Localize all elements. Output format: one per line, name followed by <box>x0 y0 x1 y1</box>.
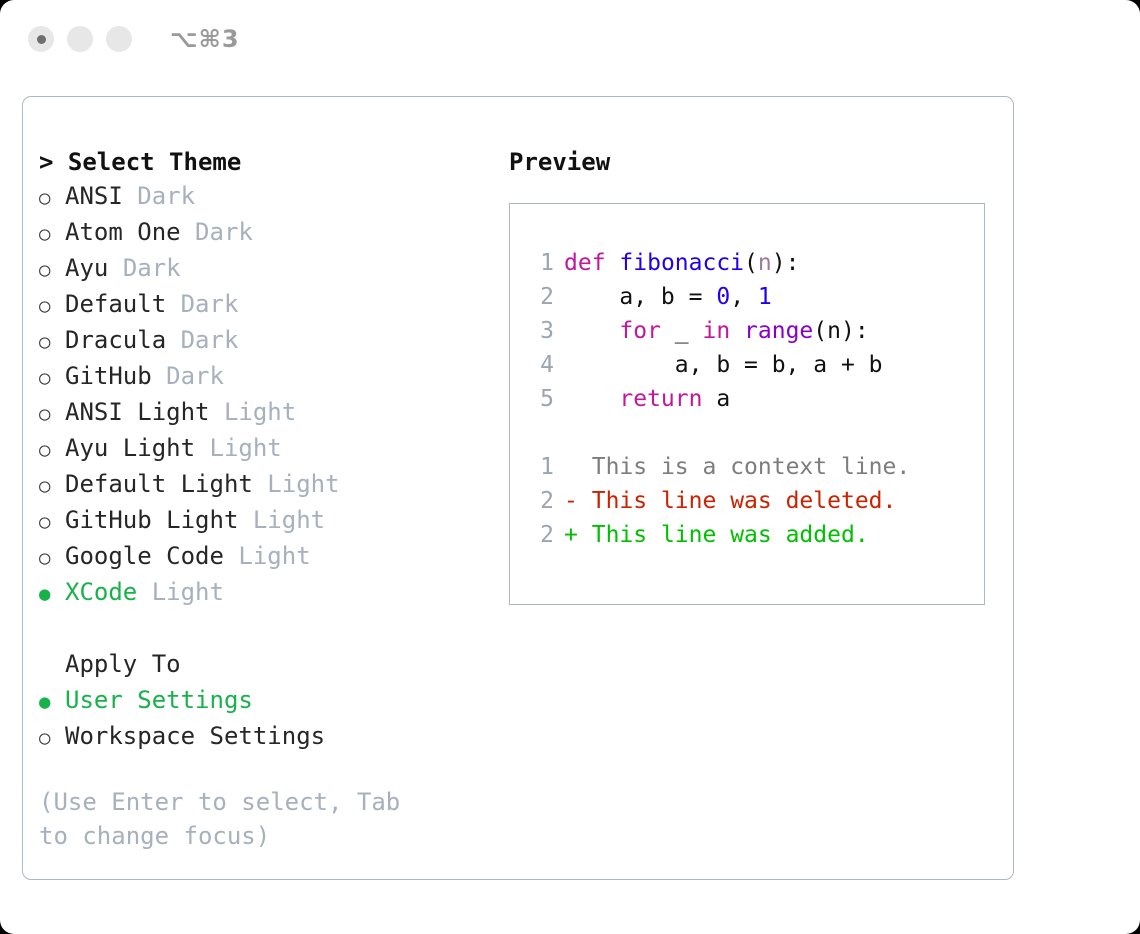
apply-to-heading-spacer <box>39 649 65 683</box>
theme-option-name: ANSI Light <box>65 395 210 429</box>
theme-option-name: Atom One <box>65 215 181 249</box>
theme-option-kind: Light <box>152 575 224 609</box>
code-line: 3 for _ in range(n): <box>526 314 984 348</box>
keyboard-hint: (Use Enter to select, Tab to change focu… <box>39 785 439 853</box>
keyboard-shortcut-label: ⌥⌘3 <box>170 25 240 53</box>
theme-option-spacer <box>238 503 252 537</box>
code-token <box>606 250 620 276</box>
code-line-number: 3 <box>526 314 554 348</box>
window-dot-second[interactable] <box>67 26 93 52</box>
apply-to-heading: Apply To <box>65 647 181 681</box>
radio-unselected-icon: ○ <box>39 253 65 287</box>
diff-line-number: 2 <box>526 518 554 552</box>
apply-to-list: ●User Settings○Workspace Settings <box>39 683 485 755</box>
radio-unselected-icon: ○ <box>39 289 65 323</box>
theme-option-name: Default <box>65 287 166 321</box>
select-theme-heading: > Select Theme <box>39 145 485 179</box>
diff-marker <box>564 454 578 480</box>
theme-option-name: GitHub Light <box>65 503 238 537</box>
diff-line-text: This is a context line. <box>592 454 911 480</box>
code-token: , <box>730 284 758 310</box>
theme-option-name: XCode <box>65 575 137 609</box>
radio-unselected-icon: ○ <box>39 721 65 755</box>
theme-list-column: > Select Theme ○ANSI Dark○Atom One Dark○… <box>23 97 485 879</box>
code-token: a, b = b, a + b <box>564 352 883 378</box>
radio-unselected-icon: ○ <box>39 397 65 431</box>
theme-option-default[interactable]: ○Default Dark <box>39 287 485 323</box>
theme-option-spacer <box>137 575 151 609</box>
window-dot-third[interactable] <box>106 26 132 52</box>
theme-option-spacer <box>253 467 267 501</box>
radio-unselected-icon: ○ <box>39 217 65 251</box>
radio-unselected-icon: ○ <box>39 433 65 467</box>
window-controls <box>28 26 132 52</box>
radio-unselected-icon: ○ <box>39 325 65 359</box>
preview-column: Preview 1def fibonacci(n):2 a, b = 0, 13… <box>485 97 1013 879</box>
theme-option-kind: Light <box>210 431 282 465</box>
code-token: (n): <box>813 318 868 344</box>
theme-list: ○ANSI Dark○Atom One Dark○Ayu Dark○Defaul… <box>39 179 485 611</box>
theme-option-name: Dracula <box>65 323 166 357</box>
theme-option-spacer <box>108 251 122 285</box>
code-line: 4 a, b = b, a + b <box>526 348 984 382</box>
app-window: ⌥⌘3 > Select Theme ○ANSI Dark○Atom One D… <box>0 0 1140 934</box>
code-token: for <box>619 318 661 344</box>
radio-unselected-icon: ○ <box>39 541 65 575</box>
theme-option-spacer <box>210 395 224 429</box>
theme-option-name: ANSI <box>65 179 123 213</box>
window-dot-active[interactable] <box>28 26 54 52</box>
theme-option-kind: Dark <box>181 323 239 357</box>
theme-option-kind: Light <box>224 395 296 429</box>
code-token: ( <box>744 250 758 276</box>
theme-option-ayu-light[interactable]: ○Ayu Light Light <box>39 431 485 467</box>
code-token <box>730 318 744 344</box>
apply-to-option-user-settings[interactable]: ●User Settings <box>39 683 485 719</box>
diff-sample: 1 This is a context line.2- This line wa… <box>526 450 984 552</box>
code-line: 1def fibonacci(n): <box>526 246 984 280</box>
radio-unselected-icon: ○ <box>39 505 65 539</box>
theme-option-kind: Dark <box>123 251 181 285</box>
theme-option-spacer <box>195 431 209 465</box>
diff-marker-gap <box>578 522 592 548</box>
diff-line-text: This line was deleted. <box>592 488 897 514</box>
diff-line: 1 This is a context line. <box>526 450 984 484</box>
diff-line-text: This line was added. <box>592 522 869 548</box>
apply-to-option-label: Workspace Settings <box>65 719 325 753</box>
theme-option-xcode[interactable]: ●XCode Light <box>39 575 485 611</box>
theme-option-spacer <box>152 359 166 393</box>
theme-option-kind: Light <box>238 539 310 573</box>
theme-option-ayu[interactable]: ○Ayu Dark <box>39 251 485 287</box>
theme-option-github-light[interactable]: ○GitHub Light Light <box>39 503 485 539</box>
apply-to-option-label: User Settings <box>65 683 253 717</box>
radio-unselected-icon: ○ <box>39 361 65 395</box>
code-token: in <box>702 318 730 344</box>
code-line: 5 return a <box>526 382 984 416</box>
code-token: return <box>619 386 702 412</box>
theme-option-spacer <box>123 179 137 213</box>
theme-option-github[interactable]: ○GitHub Dark <box>39 359 485 395</box>
theme-option-kind: Dark <box>137 179 195 213</box>
theme-option-dracula[interactable]: ○Dracula Dark <box>39 323 485 359</box>
apply-to-option-workspace-settings[interactable]: ○Workspace Settings <box>39 719 485 755</box>
code-token <box>564 318 619 344</box>
code-token: a <box>702 386 730 412</box>
code-token: 1 <box>758 284 772 310</box>
radio-unselected-icon: ○ <box>39 469 65 503</box>
theme-option-ansi[interactable]: ○ANSI Dark <box>39 179 485 215</box>
theme-option-kind: Dark <box>195 215 253 249</box>
theme-option-name: Google Code <box>65 539 224 573</box>
theme-picker-panel: > Select Theme ○ANSI Dark○Atom One Dark○… <box>22 96 1014 880</box>
theme-option-kind: Dark <box>166 359 224 393</box>
theme-option-kind: Light <box>253 503 325 537</box>
radio-unselected-icon: ○ <box>39 181 65 215</box>
theme-option-kind: Light <box>267 467 339 501</box>
radio-selected-icon: ● <box>39 685 65 719</box>
diff-marker: - <box>564 488 578 514</box>
diff-marker-gap <box>578 454 592 480</box>
titlebar: ⌥⌘3 <box>0 0 1140 78</box>
theme-option-name: Default Light <box>65 467 253 501</box>
theme-option-name: Ayu <box>65 251 108 285</box>
code-token: ): <box>772 250 800 276</box>
diff-line-number: 2 <box>526 484 554 518</box>
code-token: n <box>758 250 772 276</box>
code-line-number: 5 <box>526 382 554 416</box>
theme-option-google-code[interactable]: ○Google Code Light <box>39 539 485 575</box>
code-token: fibonacci <box>619 250 744 276</box>
diff-line-number: 1 <box>526 450 554 484</box>
diff-marker: + <box>564 522 578 548</box>
code-diff-separator <box>526 416 984 450</box>
apply-to-heading-row: Apply To <box>39 647 485 683</box>
code-line: 2 a, b = 0, 1 <box>526 280 984 314</box>
code-token: 0 <box>716 284 730 310</box>
theme-option-name: Ayu Light <box>65 431 195 465</box>
radio-selected-icon: ● <box>39 577 65 611</box>
window-dot-active-indicator <box>37 35 46 44</box>
code-line-number: 2 <box>526 280 554 314</box>
preview-title: Preview <box>501 145 1013 179</box>
theme-option-spacer <box>166 287 180 321</box>
code-line-number: 1 <box>526 246 554 280</box>
theme-option-spacer <box>166 323 180 357</box>
theme-option-default-light[interactable]: ○Default Light Light <box>39 467 485 503</box>
code-sample: 1def fibonacci(n):2 a, b = 0, 13 for _ i… <box>526 246 984 416</box>
diff-marker-gap <box>578 488 592 514</box>
diff-line: 2- This line was deleted. <box>526 484 984 518</box>
code-token: a, b = <box>564 284 716 310</box>
preview-code-box: 1def fibonacci(n):2 a, b = 0, 13 for _ i… <box>509 203 985 605</box>
code-line-number: 4 <box>526 348 554 382</box>
theme-option-spacer <box>224 539 238 573</box>
theme-option-kind: Dark <box>181 287 239 321</box>
code-token <box>564 386 619 412</box>
theme-option-ansi-light[interactable]: ○ANSI Light Light <box>39 395 485 431</box>
theme-option-atom-one[interactable]: ○Atom One Dark <box>39 215 485 251</box>
code-token: def <box>564 250 606 276</box>
diff-line: 2+ This line was added. <box>526 518 984 552</box>
code-token: _ <box>661 318 703 344</box>
code-token: range <box>744 318 813 344</box>
theme-option-spacer <box>181 215 195 249</box>
theme-option-name: GitHub <box>65 359 152 393</box>
